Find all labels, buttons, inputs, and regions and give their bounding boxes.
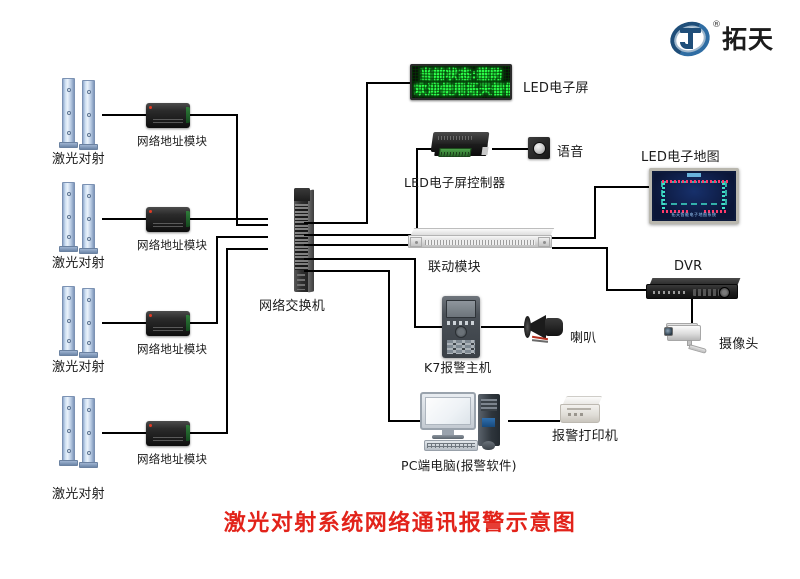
pc-workstation-label: PC端电脑(报警软件) [401, 455, 517, 474]
wire-addrmod1-to-switch [236, 224, 268, 226]
laser-beam-pair-1-label: 激光对射 [52, 148, 105, 167]
network-address-module-3-device [146, 311, 190, 336]
wire-switch-to-ledscreen-h2 [366, 82, 412, 84]
wire-switch-to-ledscreen-h1 [304, 222, 368, 224]
brand-logo: ® 拓天 [668, 18, 774, 60]
circle-t-emblem-icon: ® [668, 18, 714, 60]
wire-linkage-to-dvr-v [606, 247, 608, 291]
wire-switch-to-k7-v [414, 258, 416, 328]
voice-speaker-device [528, 137, 550, 159]
network-address-module-2-device [146, 207, 190, 232]
wire-linkage-to-dvr-h2 [606, 289, 646, 291]
network-switch-label: 网络交换机 [259, 295, 325, 314]
registered-mark: ® [712, 20, 721, 30]
dvr-device [646, 278, 742, 302]
brand-name: 拓天 [722, 27, 774, 52]
network-address-module-1-device [146, 103, 190, 128]
led-electronic-map-device: 拓天智能电子地图系统 [649, 168, 739, 224]
wire-switch-to-k7-h1 [304, 258, 416, 260]
network-address-module-4-device [146, 421, 190, 446]
wire-addrmod4-up [226, 248, 228, 434]
wire-switch-to-pc-v [388, 270, 390, 422]
wire-switch-to-ledctrl-v [416, 148, 418, 236]
wire-dvr-to-camera [691, 299, 693, 325]
wire-addrmod4-to-switch [226, 248, 268, 250]
led-map-caption: 拓天智能电子地图系统 [652, 212, 736, 218]
horn-label: 喇叭 [570, 327, 596, 346]
wire-addrmod3-up [216, 236, 218, 324]
k7-alarm-host-device [442, 296, 480, 358]
wire-addrmod2-to-switch [190, 218, 268, 220]
wire-laser1-to-addrmod1 [102, 114, 146, 116]
network-address-module-3-label: 网络地址模块 [137, 341, 207, 357]
led-screen-line-2: 欢迎使用拓天智能 [414, 83, 508, 98]
wire-laser2-to-addrmod2 [102, 218, 146, 220]
laser-beam-pair-3 [60, 286, 106, 364]
diagram-title: 激光对射系统网络通讯报警示意图 [0, 505, 800, 537]
alarm-printer-device [560, 396, 604, 426]
camera-device [663, 323, 715, 353]
led-display-screen: 当前状态:撤防 欢迎使用拓天智能 [410, 64, 512, 100]
wire-addrmod3-to-switch [216, 236, 268, 238]
wire-addrmod1-down [236, 114, 238, 226]
linkage-module-device [408, 228, 556, 254]
network-address-module-4-label: 网络地址模块 [137, 451, 207, 467]
led-screen-line-1: 当前状态:撤防 [414, 68, 508, 83]
wire-switch-to-ledctrl-h1 [304, 234, 418, 236]
wire-addrmod3-out [190, 322, 218, 324]
wire-switch-to-linkage [304, 244, 408, 246]
camera-label: 摄像头 [719, 333, 759, 352]
pc-workstation-device [420, 392, 512, 454]
wire-linkage-to-ledmap-h2 [594, 186, 650, 188]
wire-laser4-to-addrmod4 [102, 432, 146, 434]
k7-alarm-host-label: K7报警主机 [424, 357, 491, 376]
wire-pc-to-printer [508, 420, 560, 422]
led-screen-controller-device [432, 132, 490, 159]
horn-speaker-device [524, 312, 568, 342]
wire-linkage-to-ledmap-v [594, 186, 596, 239]
network-switch-device [286, 188, 316, 294]
led-display-screen-label: LED电子屏 [523, 77, 589, 96]
wire-linkage-to-ledmap-h1 [552, 237, 596, 239]
alarm-printer-label: 报警打印机 [552, 425, 618, 444]
network-address-module-2-label: 网络地址模块 [137, 237, 207, 253]
laser-beam-pair-2 [60, 182, 106, 260]
laser-beam-pair-4 [60, 396, 106, 474]
wire-laser3-to-addrmod3 [102, 322, 146, 324]
wire-addrmod4-out [190, 432, 228, 434]
wire-switch-to-ledscreen-v [366, 82, 368, 224]
laser-beam-pair-4-label: 激光对射 [52, 483, 105, 502]
wire-linkage-to-dvr-h1 [552, 247, 608, 249]
wire-switch-to-k7-h2 [414, 326, 442, 328]
led-screen-controller-label: LED电子屏控制器 [404, 172, 505, 191]
laser-beam-pair-3-label: 激光对射 [52, 356, 105, 375]
wire-addrmod1-out [190, 114, 238, 116]
diagram-canvas: ® 拓天 网络交换机 当前状 [0, 0, 800, 579]
dvr-label: DVR [674, 259, 702, 274]
linkage-module-label: 联动模块 [428, 256, 481, 275]
laser-beam-pair-1 [60, 78, 106, 156]
laser-beam-pair-2-label: 激光对射 [52, 252, 105, 271]
voice-label: 语音 [557, 141, 583, 160]
wire-switch-to-pc-h2 [388, 420, 420, 422]
network-address-module-1-label: 网络地址模块 [137, 133, 207, 149]
wire-ledctrl-to-voice [492, 148, 528, 150]
wire-switch-to-pc-h1 [304, 270, 390, 272]
wire-k7-to-horn [481, 326, 525, 328]
led-map-label: LED电子地图 [641, 146, 720, 165]
